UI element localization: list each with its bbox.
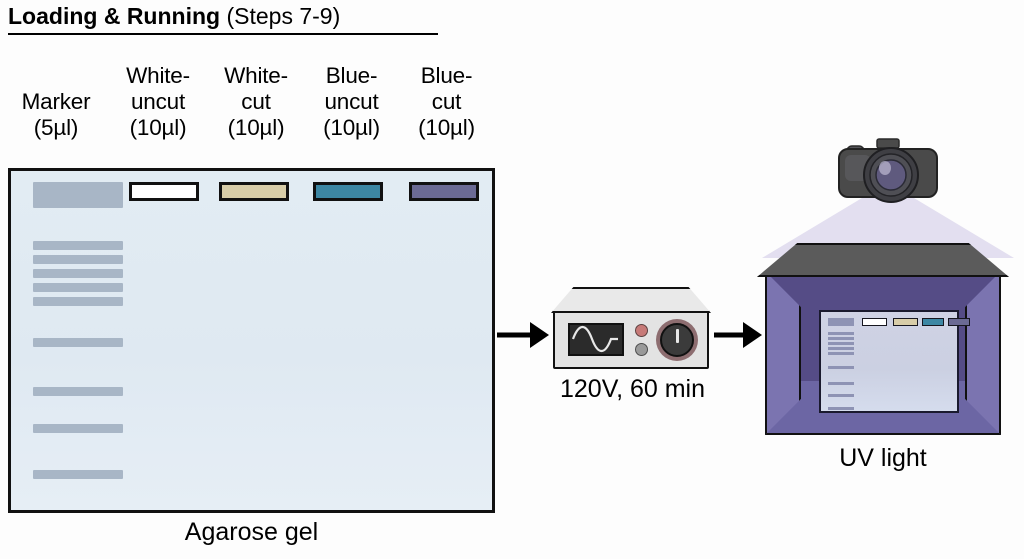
marker-band — [33, 283, 123, 292]
agarose-gel — [8, 168, 495, 513]
waveform-icon — [570, 325, 621, 353]
lane-label-blue-cut-volume: (10µl) — [398, 115, 495, 141]
sample-well-blue-cut[interactable] — [409, 182, 479, 201]
arrow-gel-to-power-icon — [497, 321, 549, 349]
lane-label-white-uncut-line2: uncut — [108, 89, 208, 115]
lane-label-white-cut-volume: (10µl) — [206, 115, 306, 141]
voltage-knob[interactable] — [660, 323, 694, 357]
mini-marker-band — [828, 382, 854, 385]
sample-well-blue-uncut[interactable] — [313, 182, 383, 201]
sample-well-white-uncut[interactable] — [129, 182, 199, 201]
page-title: Loading & Running (Steps 7-9) — [8, 2, 438, 35]
page-title-steps: (Steps 7-9) — [220, 3, 340, 29]
marker-band — [33, 269, 123, 278]
lane-label-blue-uncut-volume: (10µl) — [303, 115, 400, 141]
power-supply-body — [553, 311, 709, 369]
lane-label-blue-uncut-line1: Blue- — [303, 63, 400, 89]
marker-lane-well — [33, 182, 123, 208]
mini-marker-band — [828, 407, 854, 410]
gel-caption: Agarose gel — [8, 518, 495, 547]
marker-band — [33, 424, 123, 433]
marker-band — [33, 241, 123, 250]
mini-marker-band — [828, 342, 854, 345]
mini-marker-band — [828, 366, 854, 369]
uv-transilluminator — [757, 243, 1009, 439]
power-supply-display — [568, 323, 624, 356]
lane-labels: Marker (5µl) White- uncut (10µl) White- … — [0, 56, 500, 152]
mini-marker-band — [828, 332, 854, 335]
mini-marker-band — [828, 352, 854, 355]
lane-label-white-uncut-volume: (10µl) — [108, 115, 208, 141]
power-supply-unit — [551, 287, 711, 370]
mini-marker-band — [828, 394, 854, 397]
mini-marker-band — [828, 347, 854, 350]
power-supply-lid — [551, 287, 711, 313]
camera-icon — [833, 137, 943, 209]
lane-label-marker-line1: Marker — [0, 89, 114, 115]
page-title-bold: Loading & Running — [8, 3, 220, 29]
power-led-red-icon — [635, 324, 648, 337]
lane-label-white-cut: White- cut (10µl) — [206, 63, 306, 141]
mini-marker-band — [828, 337, 854, 340]
mini-well-blue-cut — [948, 318, 970, 326]
mini-marker-well — [828, 318, 854, 326]
uv-caption: UV light — [757, 444, 1009, 473]
mini-well-blue-uncut — [922, 318, 944, 326]
lane-label-white-cut-line1: White- — [206, 63, 306, 89]
uv-mini-gel — [819, 310, 959, 413]
marker-band — [33, 470, 123, 479]
lane-label-white-uncut-line1: White- — [108, 63, 208, 89]
marker-band — [33, 255, 123, 264]
power-led-gray-icon — [635, 343, 648, 356]
arrow-power-to-uv-icon — [714, 321, 762, 349]
lane-label-blue-uncut-line2: uncut — [303, 89, 400, 115]
mini-well-white-uncut — [862, 318, 887, 326]
sample-well-white-cut[interactable] — [219, 182, 289, 201]
marker-band — [33, 338, 123, 347]
lane-label-blue-cut-line1: Blue- — [398, 63, 495, 89]
power-supply-caption: 120V, 60 min — [520, 375, 745, 404]
lane-label-blue-cut-line2: cut — [398, 89, 495, 115]
lane-label-white-cut-line2: cut — [206, 89, 306, 115]
lane-label-blue-uncut: Blue- uncut (10µl) — [303, 63, 400, 141]
lane-label-blue-cut: Blue- cut (10µl) — [398, 63, 495, 141]
lane-label-marker: Marker (5µl) — [0, 89, 114, 141]
marker-band — [33, 387, 123, 396]
mini-well-white-cut — [893, 318, 918, 326]
lane-label-white-uncut: White- uncut (10µl) — [108, 63, 208, 141]
voltage-knob-pointer — [676, 329, 679, 343]
lane-label-marker-volume: (5µl) — [0, 115, 114, 141]
marker-band — [33, 297, 123, 306]
uv-box-lid — [757, 243, 1009, 277]
